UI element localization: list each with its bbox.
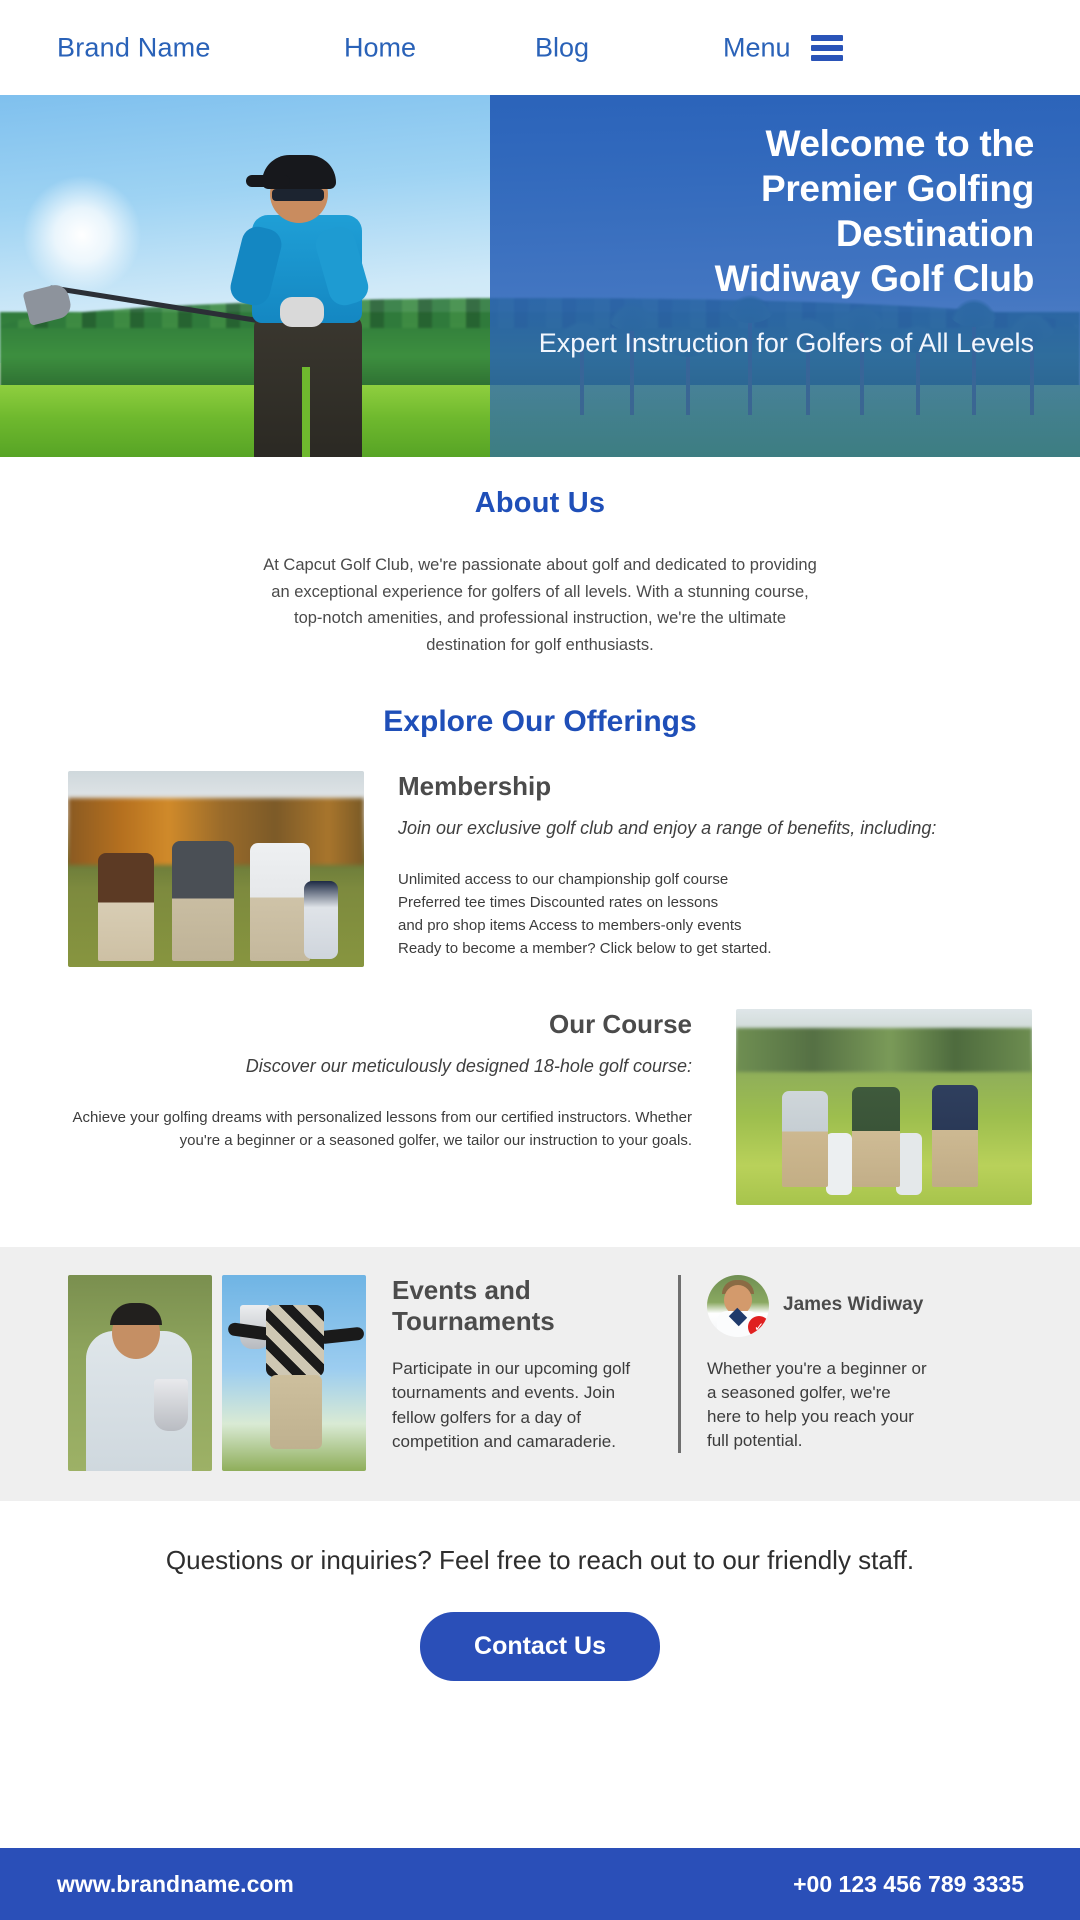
membership-benefits: Unlimited access to our championship gol… <box>398 869 1032 960</box>
membership-intro: Join our exclusive golf club and enjoy a… <box>398 816 1032 842</box>
cta-text: Questions or inquiries? Feel free to rea… <box>0 1543 1080 1578</box>
events-image-cup-winner <box>222 1275 366 1471</box>
offerings-title: Explore Our Offerings <box>0 705 1080 739</box>
course-image <box>736 1009 1032 1205</box>
about-body: At Capcut Golf Club, we're passionate ab… <box>260 552 820 659</box>
hero-text-panel: Welcome to the Premier Golfing Destinati… <box>490 95 1080 457</box>
brand-logo[interactable]: Brand Name <box>57 32 211 63</box>
hamburger-bar <box>811 55 843 61</box>
testimonial-name: James Widiway <box>783 1294 923 1317</box>
membership-text: Membership Join our exclusive golf club … <box>364 771 1032 961</box>
testimonial-card: ✓ James Widiway Whether you're a beginne… <box>678 1275 928 1454</box>
hero-subtitle: Expert Instruction for Golfers of All Le… <box>536 326 1034 360</box>
course-text: Our Course Discover our meticulously des… <box>68 1009 736 1153</box>
hamburger-icon[interactable] <box>811 35 843 61</box>
membership-block: Membership Join our exclusive golf club … <box>0 771 1080 967</box>
about-title: About Us <box>0 487 1080 520</box>
course-heading: Our Course <box>68 1009 692 1040</box>
site-header: Brand Name Home Blog Menu <box>0 0 1080 95</box>
hero-banner: Welcome to the Premier Golfing Destinati… <box>0 95 1080 457</box>
nav-item-blog[interactable]: Blog <box>535 32 589 63</box>
hero-title: Welcome to the Premier Golfing Destinati… <box>536 121 1034 302</box>
nav-item-home[interactable]: Home <box>344 32 416 63</box>
footer-website[interactable]: www.brandname.com <box>57 1871 294 1898</box>
landing-page: Brand Name Home Blog Menu <box>0 0 1080 1920</box>
hero-title-line: Destination <box>536 211 1034 256</box>
hamburger-bar <box>811 45 843 51</box>
contact-us-button[interactable]: Contact Us <box>420 1612 660 1681</box>
verified-check-icon: ✓ <box>748 1316 769 1337</box>
nav-item-menu[interactable]: Menu <box>723 32 791 63</box>
course-intro: Discover our meticulously designed 18-ho… <box>68 1054 692 1080</box>
course-body: Achieve your golfing dreams with persona… <box>68 1107 692 1153</box>
hero-title-line: Welcome to the <box>536 121 1034 166</box>
events-image-trophy-holder <box>68 1275 212 1471</box>
hero-title-line: Premier Golfing <box>536 166 1034 211</box>
testimonial-quote: Whether you're a beginner or a seasoned … <box>707 1357 928 1454</box>
sun-glow <box>22 175 142 295</box>
hero-title-line: Widiway Golf Club <box>536 256 1034 301</box>
hamburger-bar <box>811 35 843 41</box>
events-text: Events and Tournaments Participate in ou… <box>366 1275 656 1454</box>
events-images <box>68 1275 366 1471</box>
membership-heading: Membership <box>398 771 1032 802</box>
about-section: About Us At Capcut Golf Club, we're pass… <box>0 457 1080 659</box>
site-footer: www.brandname.com +00 123 456 789 3335 <box>0 1848 1080 1920</box>
contact-cta-section: Questions or inquiries? Feel free to rea… <box>0 1501 1080 1681</box>
course-block: Our Course Discover our meticulously des… <box>0 1009 1080 1205</box>
events-heading: Events and Tournaments <box>392 1275 638 1337</box>
avatar: ✓ <box>707 1275 769 1337</box>
events-section: Events and Tournaments Participate in ou… <box>0 1247 1080 1501</box>
testimonial-header: ✓ James Widiway <box>707 1275 928 1337</box>
golfer-figure <box>218 127 398 457</box>
footer-phone[interactable]: +00 123 456 789 3335 <box>793 1871 1024 1898</box>
events-body: Participate in our upcoming golf tournam… <box>392 1357 638 1454</box>
membership-image <box>68 771 364 967</box>
